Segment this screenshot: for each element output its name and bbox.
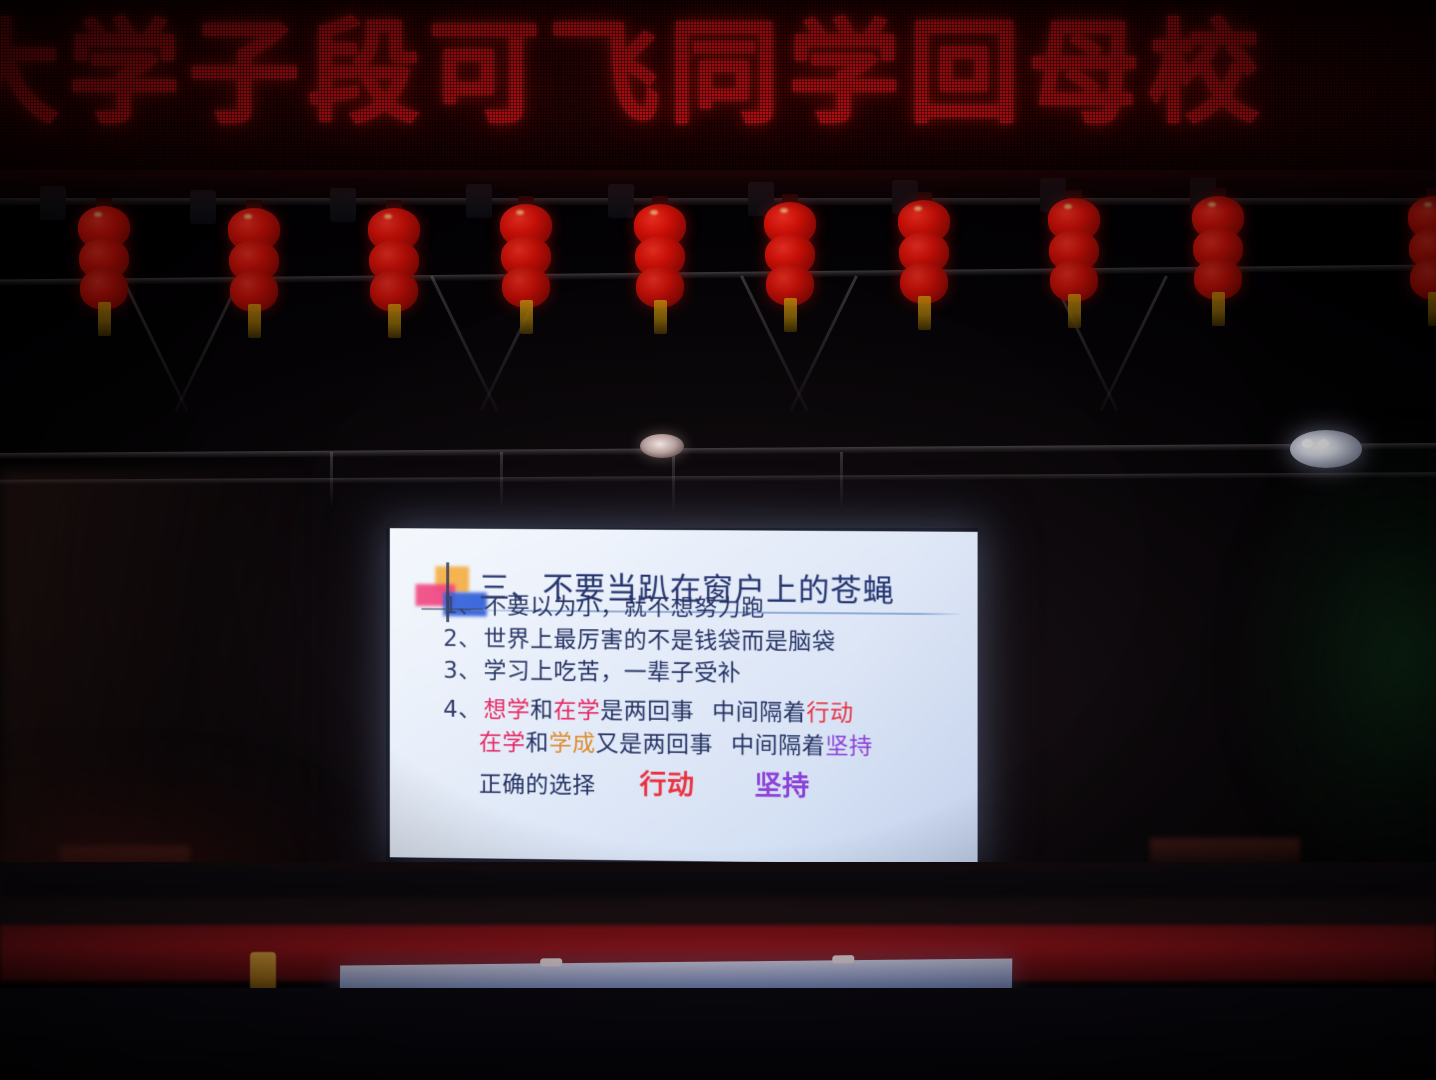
red-lantern (500, 196, 552, 334)
red-lantern (1048, 190, 1100, 328)
emphasis-jianchi: 坚持 (755, 771, 810, 803)
emphasis-xingdong: 行动 (640, 769, 695, 801)
bullet-number: 3、 (443, 658, 481, 684)
red-lantern (634, 196, 686, 334)
red-lantern (368, 200, 420, 338)
stage-apron (0, 988, 1436, 1080)
banner-drop-shadow (0, 170, 1436, 210)
projected-slide: 三、不要当趴在窗户上的苍蝇 1、不要以为小，就不想努力跑 2、世界上最厉害的不是… (390, 528, 978, 865)
highlight-xiangxue: 想学 (484, 697, 531, 723)
truss-drop (500, 452, 503, 506)
bullet-item-4-line-2: 在学和学成又是两回事中间隔着坚持 (443, 726, 963, 765)
bullet-number: 2、 (443, 626, 481, 652)
highlight-zaixue: 在学 (554, 698, 601, 724)
highlight-zaixue-2: 在学 (479, 730, 526, 756)
truss-drop (840, 452, 843, 506)
bullet-item-4-line-1: 4、想学和在学是两回事中间隔着行动 (443, 694, 963, 732)
stage-riser (0, 870, 1436, 898)
bullet-item-4-line-3: 正确的选择行动坚持 (443, 763, 963, 809)
red-lantern (78, 198, 130, 336)
bullet-item-3: 3、学习上吃苦，一辈子受补 (443, 655, 963, 692)
bullet-item-2: 2、世界上最厉害的不是钱袋而是脑袋 (443, 623, 963, 660)
phrase-separated-by-2: 中间隔着 (731, 732, 825, 759)
phrase-two-things: 是两回事 (600, 698, 694, 725)
white-stage-light (1290, 430, 1362, 468)
conj-he-2: 和 (526, 730, 549, 756)
banner-text: 大学子段可飞同学回母校 (0, 18, 1436, 130)
phrase-separated-by: 中间隔着 (712, 699, 806, 726)
bullet-number: 4、 (443, 697, 481, 723)
highlight-xingdong: 行动 (806, 700, 853, 727)
stage-light-center (640, 434, 684, 458)
highlight-xuecheng: 学成 (549, 730, 596, 756)
red-lantern (898, 192, 950, 330)
phrase-right-choice: 正确的选择 (479, 772, 596, 799)
bullet-text: 不要以为小，就不想努力跑 (484, 593, 765, 621)
truss-bar-lower (0, 443, 1436, 459)
truss-drop (672, 452, 675, 510)
red-lantern (228, 200, 280, 338)
bullet-text: 学习上吃苦，一辈子受补 (484, 659, 742, 687)
slide-bullet-list: 1、不要以为小，就不想努力跑 2、世界上最厉害的不是钱袋而是脑袋 3、学习上吃苦… (443, 590, 963, 810)
led-marquee-banner: 大学子段可飞同学回母校 (0, 0, 1436, 178)
photo-scene: 大学子段可飞同学回母校 三、不要当趴在窗户上的苍蝇 1、不要以为小，就不想努力跑 (0, 0, 1436, 1080)
bullet-text: 世界上最厉害的不是钱袋而是脑袋 (484, 626, 836, 655)
bullet-number: 1、 (443, 593, 481, 619)
red-lantern (764, 194, 816, 332)
highlight-jianchi: 坚持 (825, 733, 872, 760)
conj-he: 和 (530, 698, 553, 724)
truss-drop (330, 452, 333, 506)
truss-bar-bottom (0, 472, 1436, 485)
phrase-also-two-things: 又是两回事 (596, 731, 713, 758)
bullet-item-1: 1、不要以为小，就不想努力跑 (443, 590, 963, 627)
